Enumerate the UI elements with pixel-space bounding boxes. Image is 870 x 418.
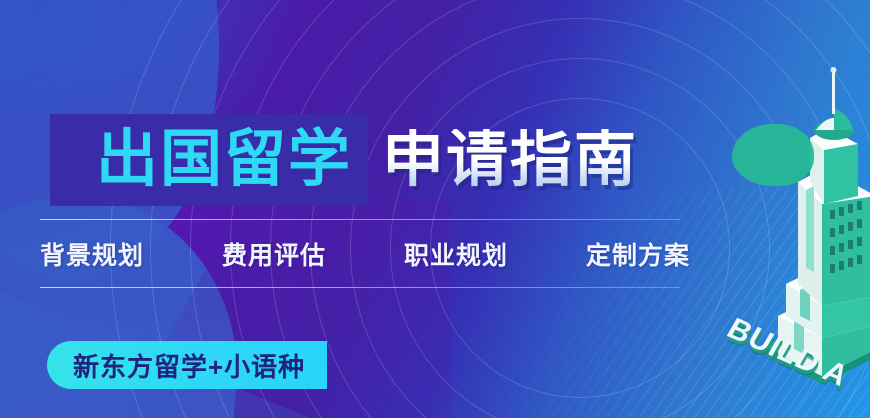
feature-item-background-planning: 背景规划 [40, 236, 144, 272]
feature-item-cost-assessment: 费用评估 [222, 236, 326, 272]
divider-line-bottom [40, 287, 680, 288]
divider-line-top [40, 219, 680, 220]
feature-item-custom-plan: 定制方案 [586, 236, 690, 272]
study-abroad-banner: 出国留学 申请指南 背景规划 费用评估 职业规划 定制方案 新东方留学+小语种 [0, 0, 870, 418]
feature-item-career-planning: 职业规划 [404, 236, 508, 272]
title-rest-text: 申请指南 [382, 129, 638, 191]
green-blob-shape [732, 124, 814, 186]
cta-button-label: 新东方留学+小语种 [73, 347, 305, 384]
banner-title: 出国留学 申请指南 [50, 112, 638, 208]
title-highlight-text: 出国留学 [96, 129, 352, 191]
skyscraper-illustration: BUILD A [726, 58, 870, 388]
cta-button[interactable]: 新东方留学+小语种 [47, 341, 327, 389]
feature-list: 背景规划 费用评估 职业规划 定制方案 [40, 232, 690, 276]
banner-content: 出国留学 申请指南 背景规划 费用评估 职业规划 定制方案 新东方留学+小语种 [0, 0, 870, 418]
title-highlight-box: 出国留学 [50, 114, 368, 206]
